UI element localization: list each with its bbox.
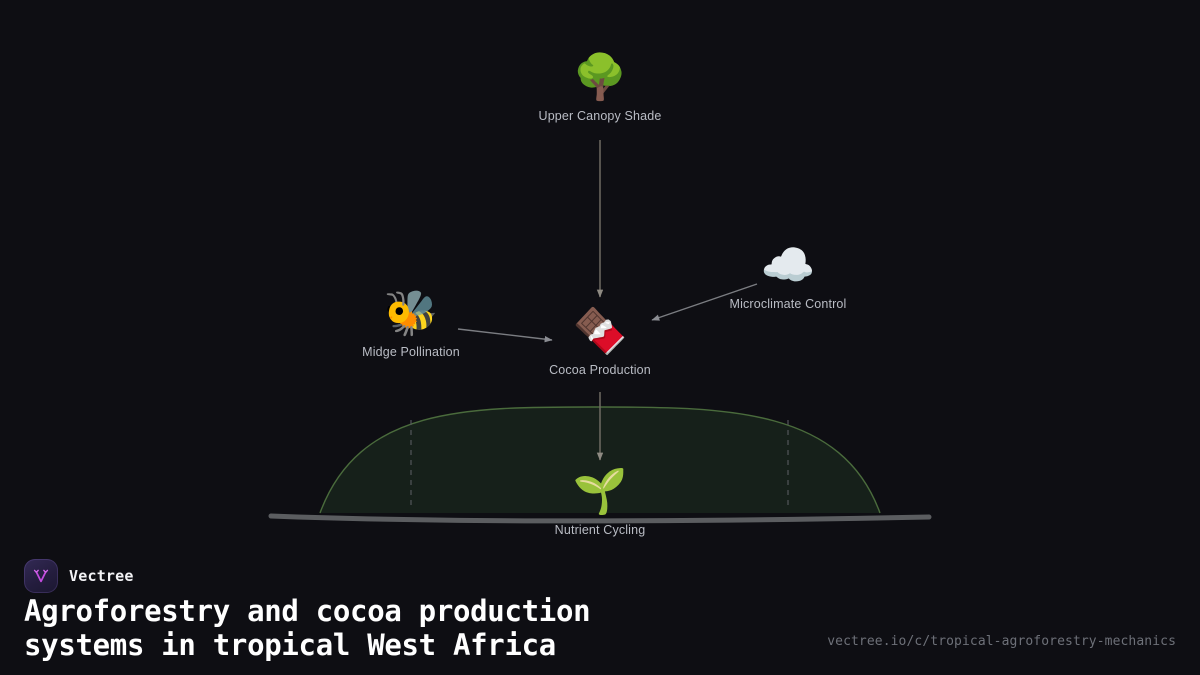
seedling-icon: 🌱: [510, 466, 690, 518]
node-upper-canopy-shade[interactable]: 🌳 Upper Canopy Shade: [510, 52, 690, 123]
bee-icon: 🐝: [321, 288, 501, 340]
diagram-canvas: 🌳 Upper Canopy Shade 🐝 Midge Pollination…: [0, 0, 1200, 560]
vectree-sprout-logo-icon: [24, 559, 58, 593]
tree-icon: 🌳: [510, 52, 690, 104]
cloud-icon: ☁️: [698, 240, 878, 292]
page-title: Agroforestry and cocoa production system…: [24, 594, 784, 662]
brand-name: Vectree: [69, 567, 134, 585]
node-label-nutrient-cycling: Nutrient Cycling: [510, 523, 690, 537]
node-nutrient-cycling[interactable]: 🌱 Nutrient Cycling: [510, 466, 690, 537]
node-label-upper-canopy-shade: Upper Canopy Shade: [510, 109, 690, 123]
node-microclimate-control[interactable]: ☁️ Microclimate Control: [698, 240, 878, 311]
chocolate-icon: 🍫: [510, 306, 690, 358]
source-url: vectree.io/c/tropical-agroforestry-mecha…: [827, 634, 1176, 649]
node-label-midge-pollination: Midge Pollination: [321, 345, 501, 359]
node-label-cocoa-production: Cocoa Production: [510, 363, 690, 377]
node-midge-pollination[interactable]: 🐝 Midge Pollination: [321, 288, 501, 359]
footer: Vectree Agroforestry and cocoa productio…: [0, 545, 1200, 675]
screenshot-root: 🌳 Upper Canopy Shade 🐝 Midge Pollination…: [0, 0, 1200, 675]
brand-row[interactable]: Vectree: [24, 559, 134, 593]
node-cocoa-production[interactable]: 🍫 Cocoa Production: [510, 306, 690, 377]
node-label-microclimate-control: Microclimate Control: [698, 297, 878, 311]
